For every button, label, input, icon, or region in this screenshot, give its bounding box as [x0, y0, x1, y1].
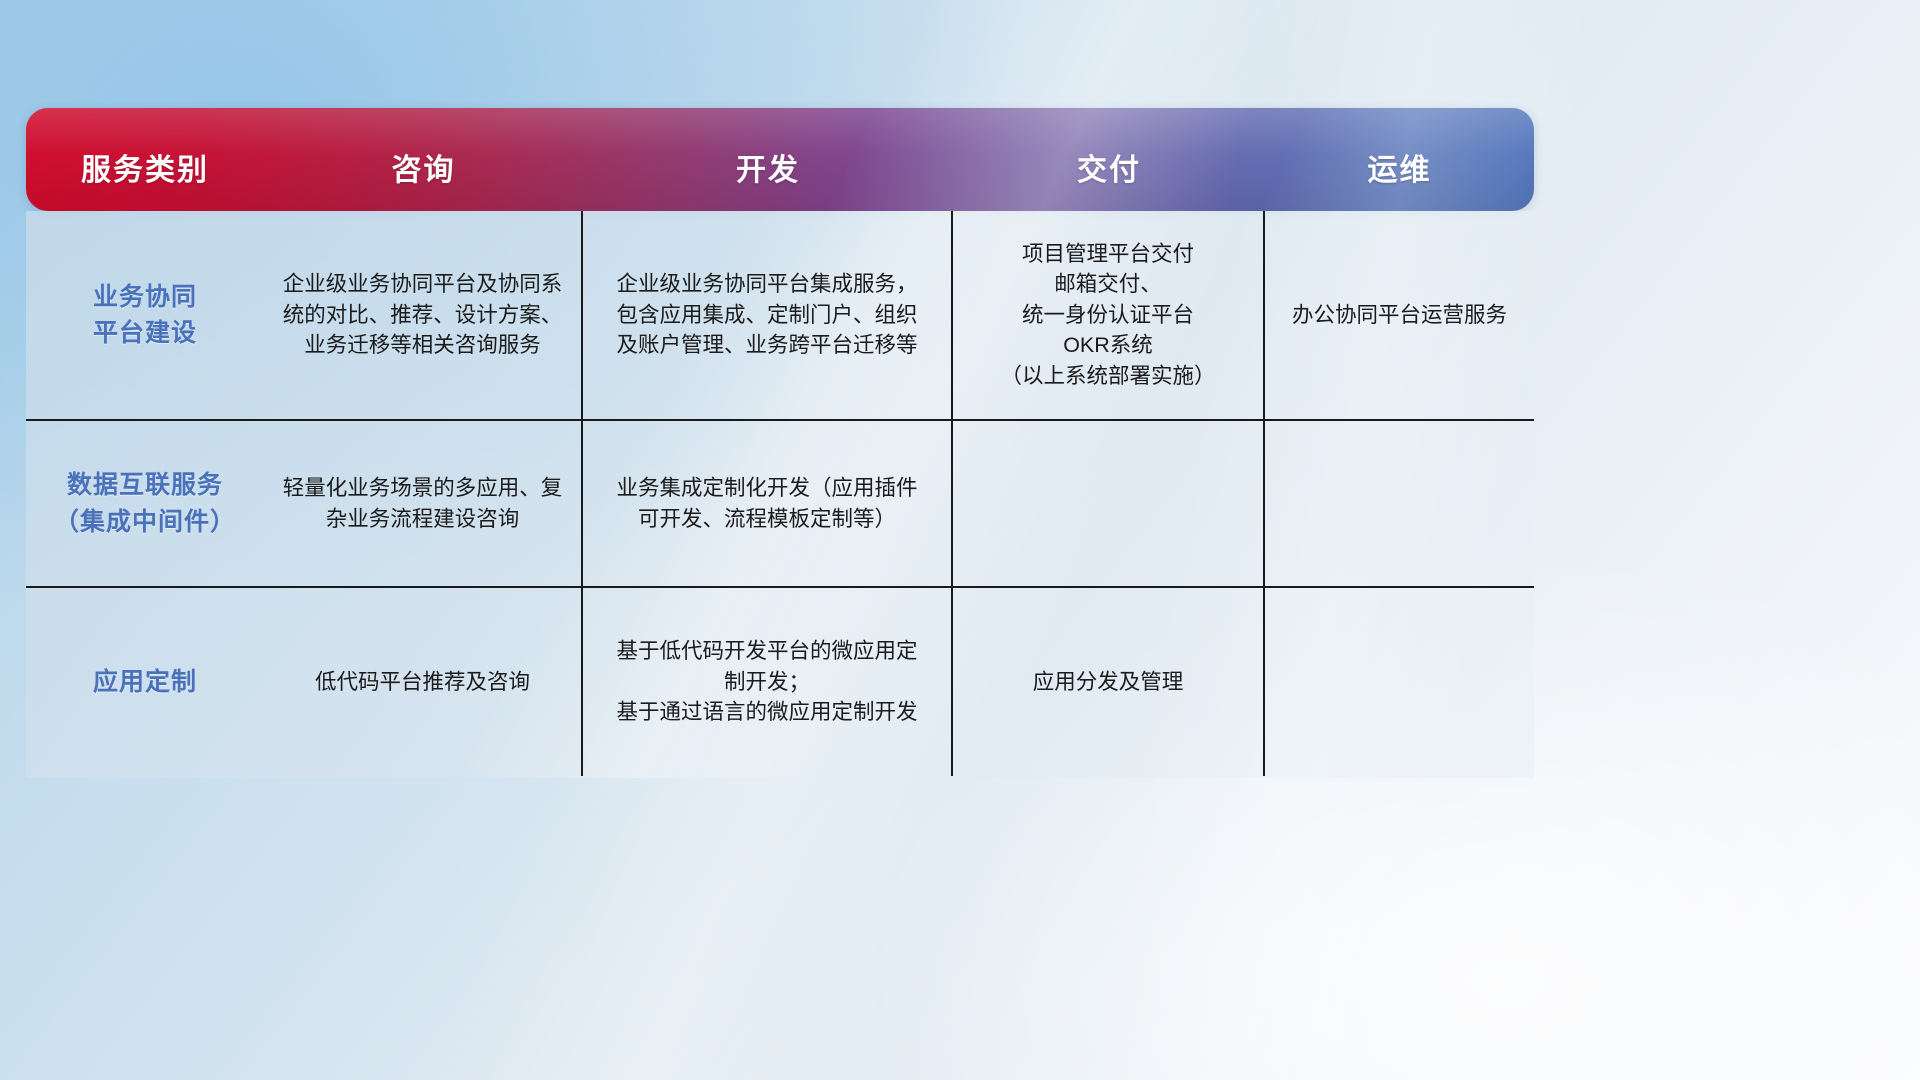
column-header-operations: 运维 — [1265, 145, 1534, 211]
cell-row1-development: 企业级业务协同平台集成服务， 包含应用集成、定制门户、组织 及账户管理、业务跨平… — [583, 211, 953, 419]
service-matrix-table: 服务类别 咨询 开发 交付 运维 业务协同 平台建设 企业级业务协同平台及协同系… — [26, 108, 1534, 778]
row-label-data-integration: 数据互联服务 （集成中间件） — [26, 421, 264, 586]
table-body: 业务协同 平台建设 企业级业务协同平台及协同系 统的对比、推荐、设计方案、 业务… — [26, 211, 1534, 778]
cell-row2-development: 业务集成定制化开发（应用插件 可开发、流程模板定制等） — [583, 421, 953, 586]
column-header-development: 开发 — [583, 145, 953, 211]
cell-row2-consulting: 轻量化业务场景的多应用、复 杂业务流程建设咨询 — [264, 421, 583, 586]
cell-row2-delivery — [953, 421, 1265, 586]
cell-row3-delivery: 应用分发及管理 — [953, 588, 1265, 776]
cell-row1-delivery: 项目管理平台交付 邮箱交付、 统一身份认证平台 OKR系统 （以上系统部署实施） — [953, 211, 1265, 419]
column-header-consulting: 咨询 — [264, 145, 583, 211]
row-label-application-customization: 应用定制 — [26, 588, 264, 776]
table-row: 业务协同 平台建设 企业级业务协同平台及协同系 统的对比、推荐、设计方案、 业务… — [26, 211, 1534, 421]
table-header-row: 服务类别 咨询 开发 交付 运维 — [26, 108, 1534, 211]
cell-row3-operations — [1265, 588, 1534, 776]
cell-row3-consulting: 低代码平台推荐及咨询 — [264, 588, 583, 776]
cell-row3-development: 基于低代码开发平台的微应用定 制开发； 基于通过语言的微应用定制开发 — [583, 588, 953, 776]
cell-row1-operations: 办公协同平台运营服务 — [1265, 211, 1534, 419]
cell-row1-consulting: 企业级业务协同平台及协同系 统的对比、推荐、设计方案、 业务迁移等相关咨询服务 — [264, 211, 583, 419]
table-row: 应用定制 低代码平台推荐及咨询 基于低代码开发平台的微应用定 制开发； 基于通过… — [26, 588, 1534, 776]
column-header-category: 服务类别 — [26, 145, 264, 211]
column-header-delivery: 交付 — [953, 145, 1265, 211]
table-row: 数据互联服务 （集成中间件） 轻量化业务场景的多应用、复 杂业务流程建设咨询 业… — [26, 421, 1534, 588]
cell-row2-operations — [1265, 421, 1534, 586]
row-label-business-collaboration: 业务协同 平台建设 — [26, 211, 264, 419]
slide-background: 服务类别 咨询 开发 交付 运维 业务协同 平台建设 企业级业务协同平台及协同系… — [0, 0, 1920, 1080]
